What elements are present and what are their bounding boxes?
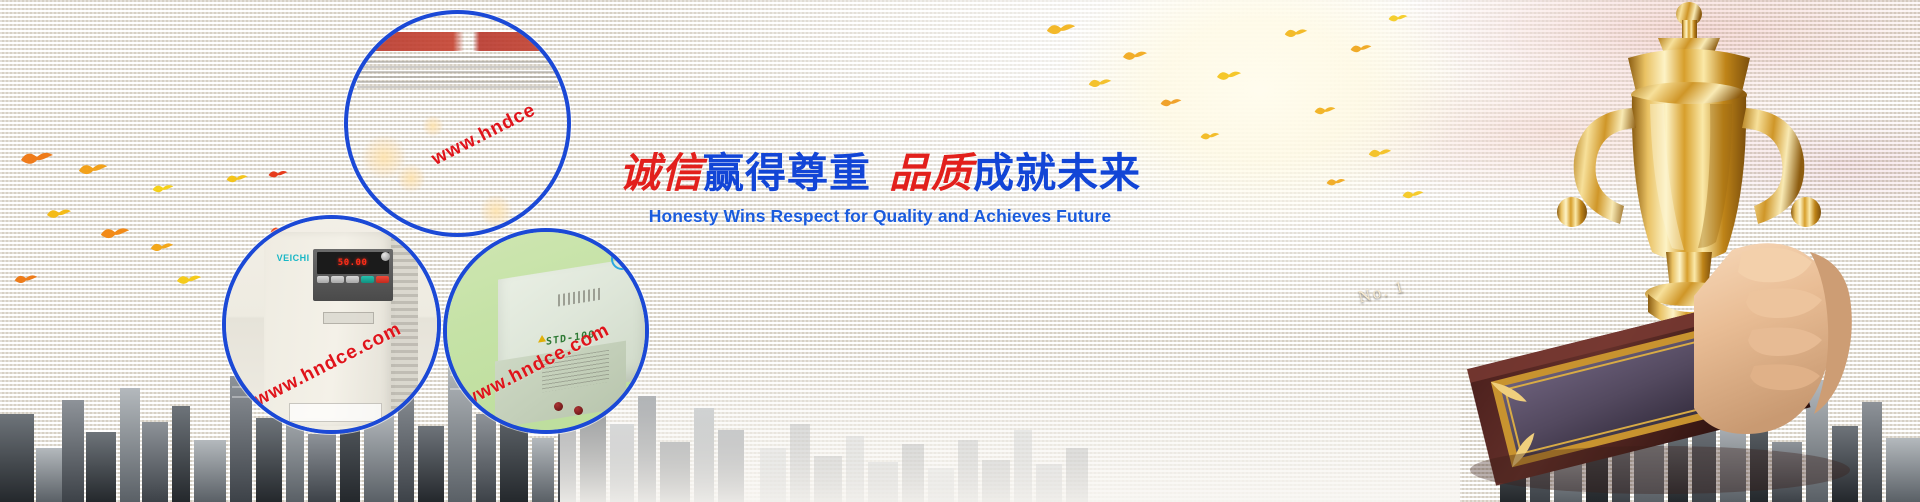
warning-triangle-icon [538,334,546,342]
inverter-display-value: 50.00 [338,258,368,268]
inverter-keys [315,276,391,283]
cabinet-top-band [348,32,567,52]
inverter-nameplate [323,312,374,325]
product-photo-std-100[interactable]: STD-100 C www.hndce.com [443,228,649,434]
slogan-cn-quality: 品质 [889,149,973,197]
cabinet-vents [357,56,559,91]
bokeh-light [396,163,426,193]
slogan-block: 诚信赢得尊重品质成就未来 Honesty Wins Respect for Qu… [600,152,1160,227]
bokeh-light [422,115,444,137]
inverter-brand-label: VEICHI [277,253,310,263]
cabinet-image [348,14,567,233]
promotional-banner: www.hndce VEICHI 50.00 [0,0,1920,502]
key-run [361,276,374,283]
slogan-cn-respect: 赢得尊重 [703,149,871,197]
key-prog [317,276,330,283]
slogan-chinese: 诚信赢得尊重品质成就未来 [600,152,1160,195]
key-stop [376,276,389,283]
inverter-keypad: 50.00 [313,249,393,302]
slogan-english: Honesty Wins Respect for Quality and Ach… [600,206,1160,227]
slogan-cn-future: 成就未来 [973,149,1141,197]
key-enter [346,276,359,283]
slogan-cn-honesty: 诚信 [619,149,703,197]
ce-logo-icon: C [611,248,633,270]
product-photo-frequency-inverter[interactable]: VEICHI 50.00 www.hndce.com [222,215,441,434]
std-terminal [574,406,583,415]
inverter-potentiometer [381,252,390,261]
key-up [331,276,344,283]
bokeh-light [479,194,513,228]
inverter-led-display: 50.00 [317,252,389,274]
inverter-warning-label [289,403,382,422]
product-photo-control-cabinets[interactable]: www.hndce [344,10,571,237]
